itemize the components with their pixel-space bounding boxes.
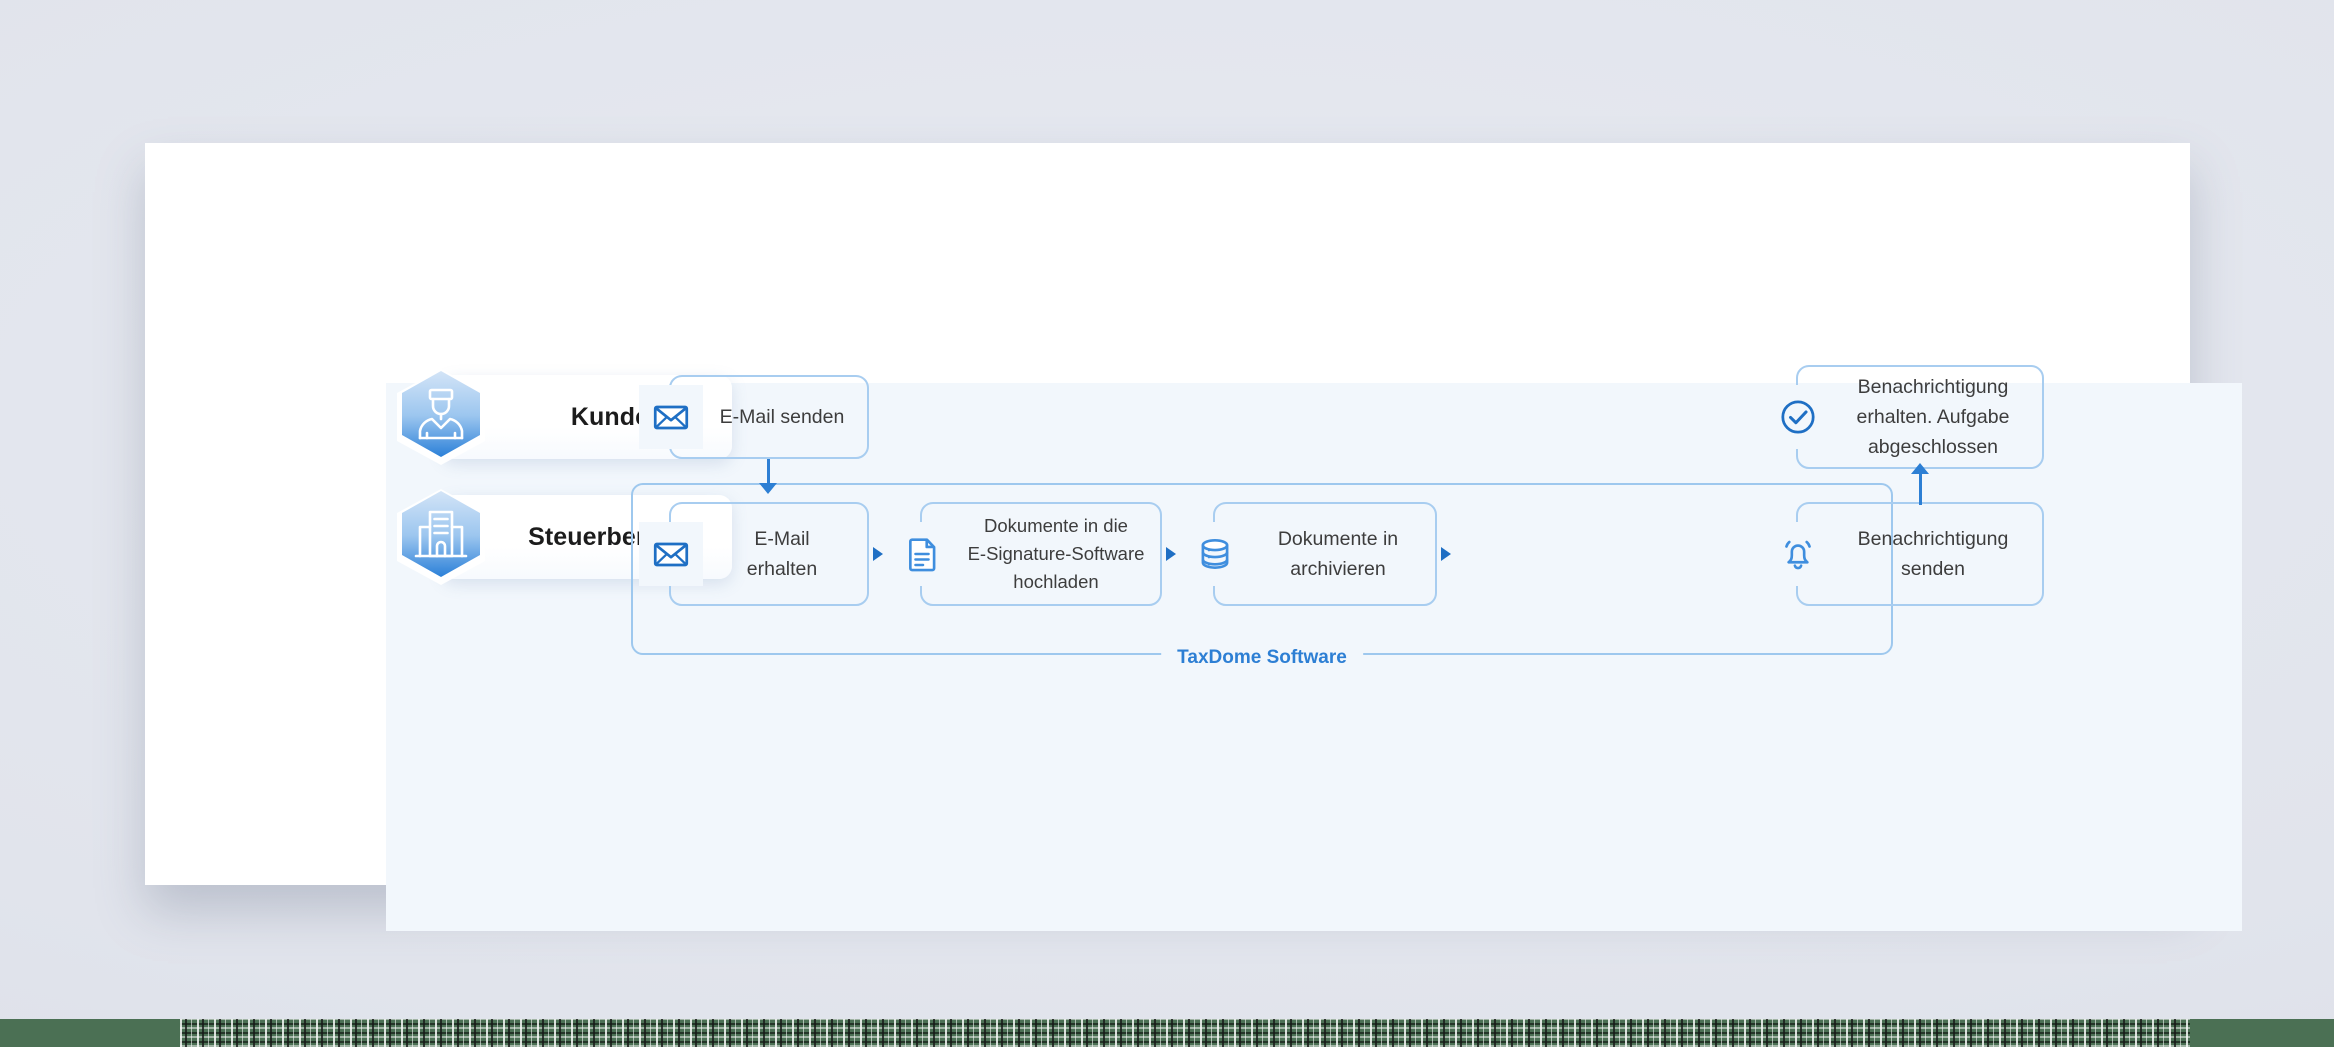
node-label-email-erhalten: E-Mail erhalten (707, 524, 831, 584)
noise-texture (180, 1019, 2190, 1047)
taxdome-software-label: TaxDome Software (1161, 647, 1363, 669)
check-circle-icon (1766, 385, 1830, 449)
node-dokumente-hochladen[interactable]: Dokumente in die E-Signature-Software ho… (920, 502, 1162, 606)
envelope-icon (639, 522, 703, 586)
node-dokumente-archivieren[interactable]: Dokumente in archivieren (1213, 502, 1437, 606)
connector-arrow-archive-to-notify (1441, 547, 1451, 561)
bell-icon (1766, 522, 1830, 586)
diagram-panel: Kunde (386, 383, 2242, 931)
node-label-benachrichtigung-senden: Benachrichtigung senden (1818, 524, 2023, 584)
node-label-benachrichtigung-erhalten: Benachrichtigung erhalten. Aufgabe abges… (1817, 372, 2024, 462)
white-content-card: Kunde (145, 143, 2190, 885)
node-label-dokumente-archivieren: Dokumente in archivieren (1238, 524, 1412, 584)
envelope-icon (639, 385, 703, 449)
office-building-icon (386, 482, 496, 592)
node-benachrichtigung-erhalten[interactable]: Benachrichtigung erhalten. Aufgabe abges… (1796, 365, 2044, 469)
node-label-dokumente-hochladen: Dokumente in die E-Signature-Software ho… (924, 512, 1159, 596)
actor-label-kunde: Kunde (571, 403, 649, 432)
node-label-email-senden: E-Mail senden (680, 402, 859, 432)
connector-arrow-upload-to-archive (1166, 547, 1176, 561)
connector-up-notify (1919, 473, 1922, 505)
database-icon (1183, 522, 1247, 586)
connector-arrow-email-to-upload (873, 547, 883, 561)
connector-up-notify-arrowhead (1911, 463, 1929, 474)
node-email-erhalten[interactable]: E-Mail erhalten (669, 502, 869, 606)
person-user-icon (386, 362, 496, 472)
node-email-senden[interactable]: E-Mail senden (669, 375, 869, 459)
connector-down-email-arrowhead (759, 483, 777, 494)
bottom-noise-strip (0, 1019, 2334, 1047)
node-benachrichtigung-senden[interactable]: Benachrichtigung senden (1796, 502, 2044, 606)
document-icon (890, 522, 954, 586)
